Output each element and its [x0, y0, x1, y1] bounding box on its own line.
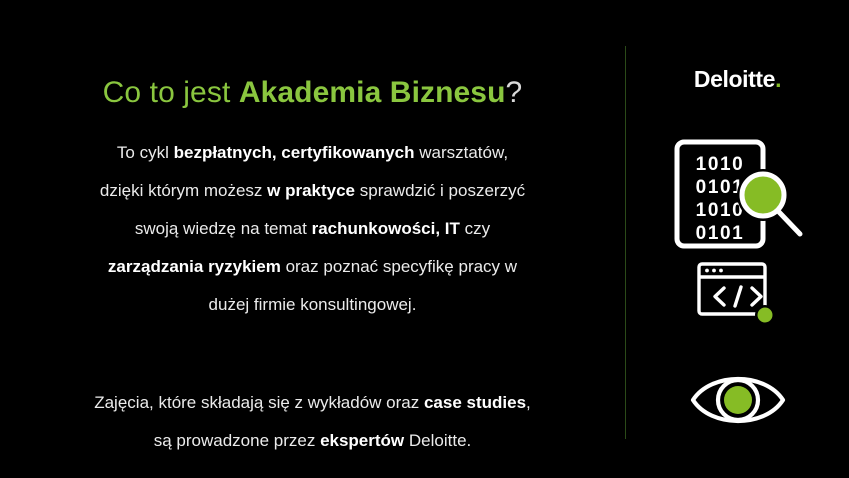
text-run-bold: w praktyce	[267, 181, 355, 200]
deloitte-logo: Deloitte.	[626, 66, 849, 93]
text-run: warsztatów,	[415, 143, 509, 162]
paragraph-secondary-line-2: są prowadzone przez ekspertów Deloitte.	[38, 422, 587, 460]
code-angle-left	[715, 288, 724, 305]
text-run: Zajęcia, które składają się z wykładów o…	[94, 393, 424, 412]
slide-root: Co to jest Akademia Biznesu? To cykl bez…	[0, 0, 849, 478]
accent-dot	[757, 308, 772, 323]
text-run: oraz poznać specyfikę pracy w	[281, 257, 517, 276]
text-run: czy	[460, 219, 490, 238]
paragraph-primary-line-2: dzięki którym możesz w praktyce sprawdzi…	[38, 172, 587, 210]
paragraph-primary-line-1: To cykl bezpłatnych, certyfikowanych war…	[38, 134, 587, 172]
text-run: Deloitte.	[404, 431, 471, 450]
binary-row-1: 1010	[695, 154, 744, 175]
text-run-bold: bezpłatnych, certyfikowanych	[174, 143, 415, 162]
code-window-icon	[626, 258, 849, 330]
text-run: są prowadzone przez	[154, 431, 320, 450]
eye-icon-svg	[689, 370, 787, 430]
eye-icon	[626, 366, 849, 434]
code-window-icon-svg	[695, 258, 781, 330]
binary-row-3: 1010	[695, 200, 744, 221]
paragraph-primary-line-3: swoją wiedzę na temat rachunkowości, IT …	[38, 210, 587, 248]
eye-pupil	[724, 386, 752, 414]
paragraph-primary: To cykl bezpłatnych, certyfikowanych war…	[38, 134, 587, 324]
text-run: sprawdzić i poszerzyć	[355, 181, 525, 200]
brand-column: Deloitte. 1010 0101 1010 0101	[626, 0, 849, 478]
binary-search-icon-svg: 1010 0101 1010 0101	[663, 134, 813, 252]
page-title-question-mark: ?	[506, 76, 523, 109]
magnifier-handle	[779, 212, 800, 234]
text-run-bold: case studies	[424, 393, 526, 412]
paragraph-secondary: Zajęcia, które składają się z wykładów o…	[38, 384, 587, 460]
paragraph-primary-line-4: zarządzania ryzykiem oraz poznać specyfi…	[38, 248, 587, 286]
text-run-bold: rachunkowości, IT	[312, 219, 460, 238]
magnifier-lens	[742, 174, 784, 216]
content-column: Co to jest Akademia Biznesu? To cykl bez…	[0, 0, 625, 478]
text-run: To cykl	[117, 143, 174, 162]
text-run: dzięki którym możesz	[100, 181, 267, 200]
binary-search-icon: 1010 0101 1010 0101	[626, 134, 849, 252]
deloitte-logo-dot: .	[775, 66, 781, 92]
page-title-lead: Co to jest	[103, 76, 239, 109]
text-run: swoją wiedzę na temat	[135, 219, 312, 238]
code-angle-right	[752, 288, 761, 305]
deloitte-logo-text: Deloitte	[694, 66, 775, 92]
text-run: ,	[526, 393, 531, 412]
code-slash	[735, 287, 741, 306]
binary-row-4: 0101	[695, 223, 744, 244]
page-title-emphasis: Akademia Biznesu	[239, 76, 506, 109]
window-dot-1	[705, 269, 709, 273]
text-run-bold: ekspertów	[320, 431, 404, 450]
paragraph-primary-line-5: dużej firmie konsultingowej.	[38, 286, 587, 324]
paragraph-secondary-line-1: Zajęcia, które składają się z wykładów o…	[38, 384, 587, 422]
page-title: Co to jest Akademia Biznesu?	[0, 74, 625, 112]
window-dot-3	[719, 269, 723, 273]
window-dot-2	[712, 269, 716, 273]
text-run: dużej firmie konsultingowej.	[209, 295, 417, 314]
text-run-bold: zarządzania ryzykiem	[108, 257, 281, 276]
